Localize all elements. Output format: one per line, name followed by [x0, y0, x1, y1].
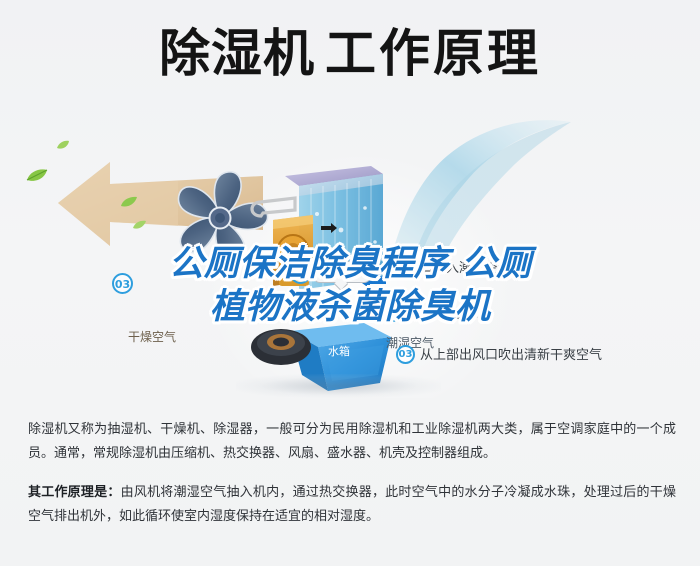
- step-badge-03: 03: [112, 273, 133, 294]
- label-water-tank: 水箱: [328, 343, 350, 359]
- process-note-02: 发器冷凝成水珠: [400, 303, 491, 322]
- leaf-icon: [56, 140, 70, 151]
- process-note-01: 口吸入潮湿空气: [420, 257, 511, 276]
- step-badge-03-secondary: 03: [396, 345, 415, 364]
- compressor-icon: [250, 326, 312, 368]
- process-note-03: 从上部出风口吹出清新干爽空气: [420, 344, 602, 363]
- page-title-part2: 工作原理: [325, 26, 541, 84]
- paragraph-1: 除湿机又称为抽湿机、干燥机、除湿器，一般可分为民用除湿机和工业除湿机两大类，属于…: [28, 418, 676, 466]
- leaf-icon: [120, 196, 138, 209]
- leaf-icon: [26, 168, 48, 184]
- page-root: 除湿机工作原理: [0, 0, 700, 566]
- unit-base-shadow: [236, 374, 441, 398]
- paragraph-2-rest: 由风机将潮湿空气抽入机内，通过热交换器，此时空气中的水分子冷凝成水珠，处理过后的…: [28, 485, 676, 524]
- label-dry-air: 干燥空气: [128, 328, 176, 345]
- paragraph-2-lead: 其工作原理是：: [28, 485, 121, 500]
- page-title-part1: 除湿机: [159, 26, 315, 84]
- body-copy: 除湿机又称为抽湿机、干燥机、除湿器，一般可分为民用除湿机和工业除湿机两大类，属于…: [28, 418, 676, 544]
- step-badge-02: 02: [290, 263, 311, 284]
- humid-air-swoosh-icon: [385, 120, 625, 260]
- page-title: 除湿机工作原理: [0, 26, 700, 84]
- paragraph-2: 其工作原理是：由风机将潮湿空气抽入机内，通过热交换器，此时空气中的水分子冷凝成水…: [28, 481, 676, 529]
- dehumidifier-unit-icon: [243, 158, 388, 343]
- leaf-icon: [132, 220, 147, 231]
- heat-exchanger-callout: 热交换器: [313, 261, 371, 283]
